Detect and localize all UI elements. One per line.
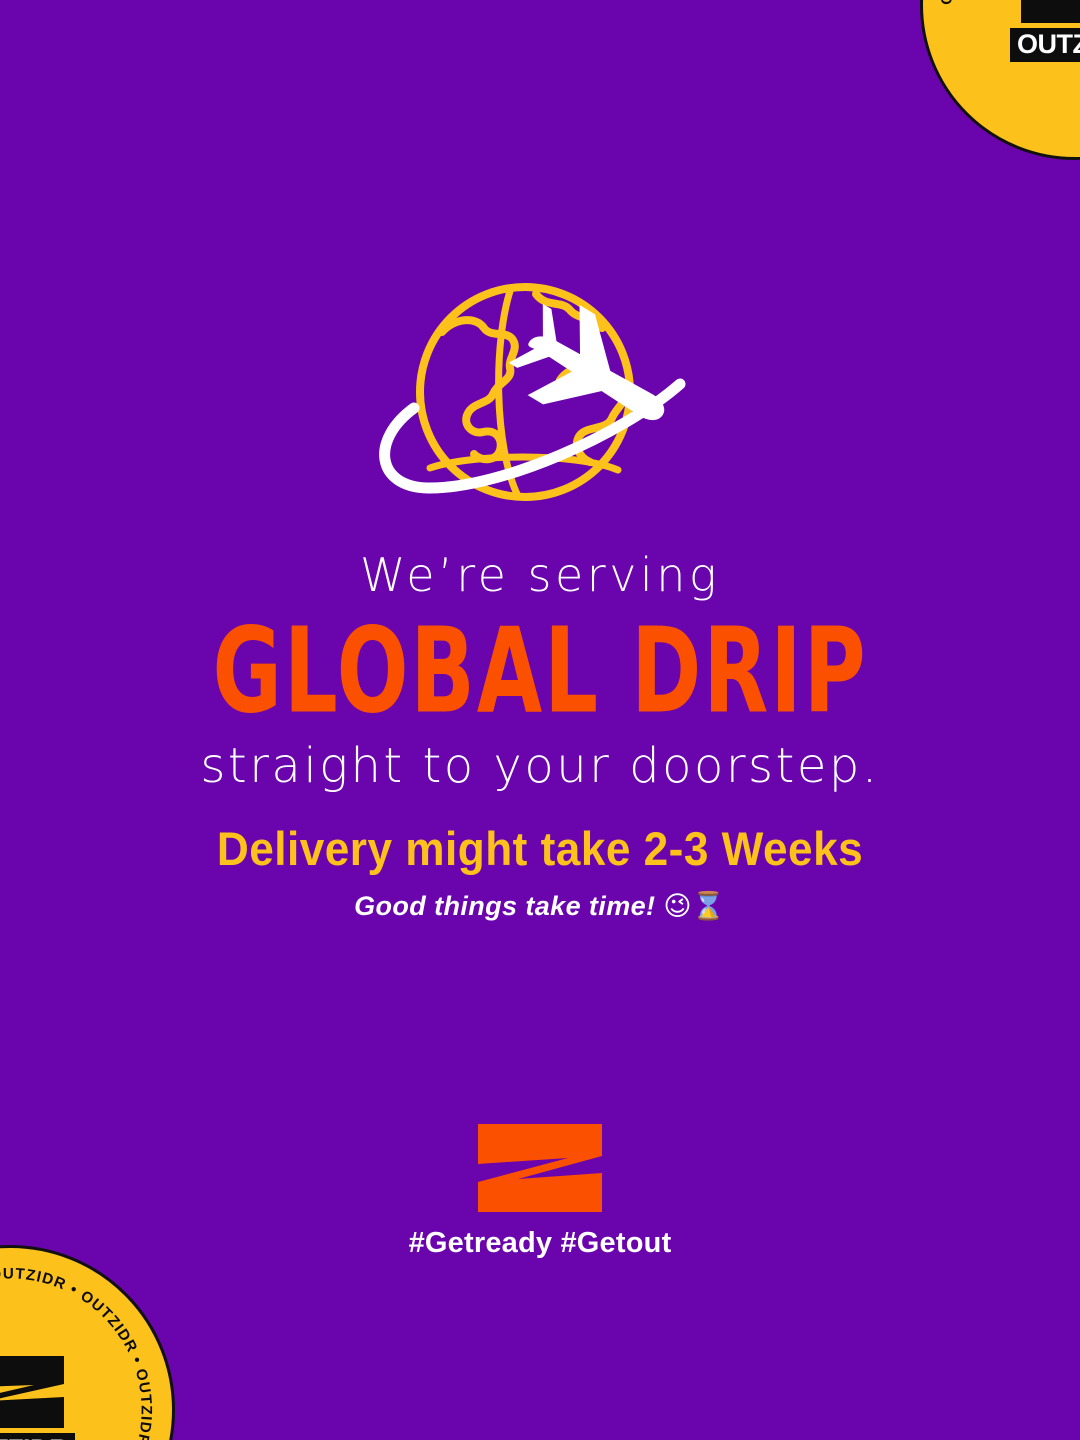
- delivery-subtext-emoji: 😉⌛: [663, 891, 726, 922]
- footer-block: #Getready #Getout: [0, 1122, 1080, 1260]
- badge-bottom-left: OUTZIDR • OUTZIDR • OUTZIDR • OUTZIDR • …: [0, 1245, 175, 1440]
- headline-line-1: We’re serving: [0, 548, 1080, 602]
- badge-core-bottom-left: OUTZIDR: [0, 1353, 75, 1440]
- badge-top-right: OUTZIDR • OUTZIDR • OUTZIDR • OUTZIDR • …: [920, 0, 1080, 160]
- badge-wordmark-z: Z: [1073, 29, 1080, 59]
- badge-wordmark-top-right: OUTZIDR: [1010, 28, 1080, 62]
- headline-line-2: GLOBAL DRIP: [43, 608, 1037, 735]
- headline-line-3: straight to your doorstep.: [0, 738, 1080, 796]
- headline-block: We’re serving GLOBAL DRIP straight to yo…: [0, 548, 1080, 795]
- badge-wordmark-z: Z: [8, 1434, 24, 1440]
- badge-wordmark-left: OUT: [1017, 29, 1073, 59]
- globe-airplane-icon: [350, 272, 730, 518]
- badge-core-top-right: OUTZIDR: [1010, 0, 1080, 62]
- z-logo-icon: [1017, 0, 1080, 26]
- delivery-subtext-label: Good things take time!: [354, 891, 655, 921]
- badge-wordmark-left: OUT: [0, 1434, 8, 1440]
- z-logo-icon: [0, 1353, 68, 1431]
- z-logo-icon: [476, 1122, 604, 1214]
- delivery-block: Delivery might take 2-3 Weeks Good thing…: [0, 822, 1080, 922]
- badge-wordmark-bottom-left: OUTZIDR: [0, 1433, 75, 1440]
- delivery-estimate-text: Delivery might take 2-3 Weeks: [32, 822, 1047, 876]
- delivery-subtext: Good things take time! 😉⌛: [0, 890, 1080, 922]
- badge-wordmark-right: IDR: [23, 1434, 68, 1440]
- poster-canvas: OUTZIDR • OUTZIDR • OUTZIDR • OUTZIDR • …: [0, 0, 1080, 1440]
